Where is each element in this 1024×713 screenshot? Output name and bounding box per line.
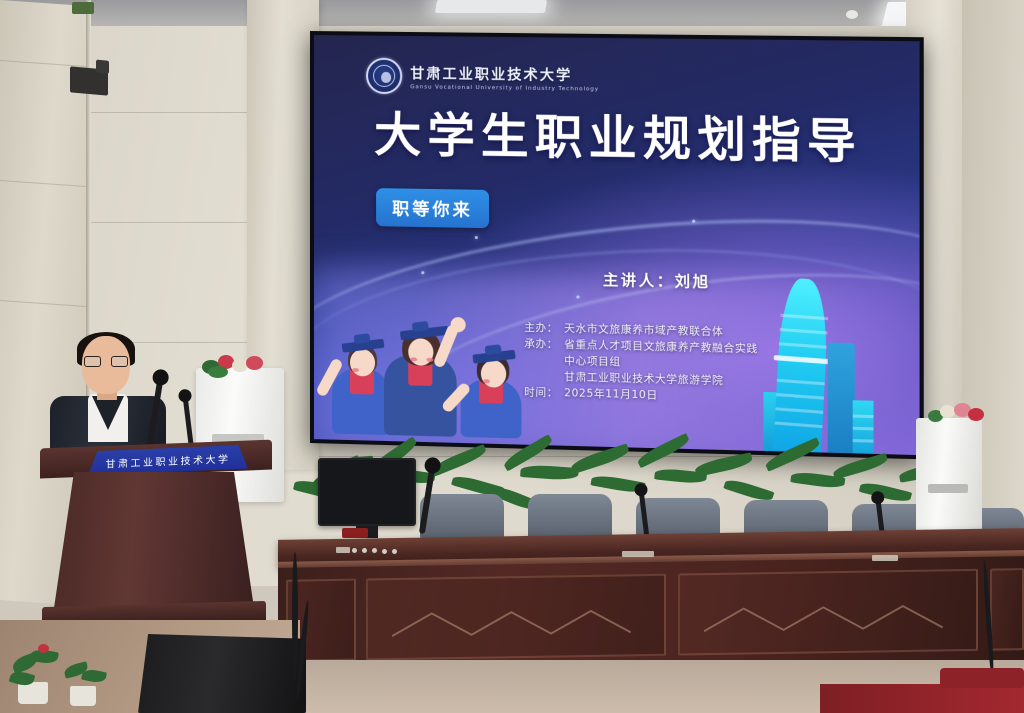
skyline-tower xyxy=(828,342,855,453)
podium-body xyxy=(54,472,254,608)
slide-badge: 职等你来 xyxy=(376,188,489,228)
eyeglasses-icon xyxy=(84,356,128,367)
slide-title: 大学生职业规划指导 xyxy=(374,112,865,167)
power-cable xyxy=(292,552,298,680)
wall-fixture xyxy=(72,2,94,14)
desk-item-red xyxy=(342,528,368,538)
slide-logo: 甘肃工业职业技术大学 Gansu Vocational University o… xyxy=(366,58,599,97)
desk-monitor xyxy=(318,458,416,526)
skyline-tower-main xyxy=(773,277,830,453)
conference-chair xyxy=(420,494,504,540)
led-screen-frame: 甘肃工业职业技术大学 Gansu Vocational University o… xyxy=(310,31,924,459)
ceiling-spotlight xyxy=(846,10,858,19)
auditorium-photo: 甘肃工业职业技术大学 Gansu Vocational University o… xyxy=(0,0,1024,713)
table-panel xyxy=(990,568,1024,651)
air-conditioner-unit-right xyxy=(916,418,982,538)
date-value: 2025年11月10日 xyxy=(558,385,658,404)
podium-nameplate-text: 甘肃工业职业技术大学 xyxy=(106,450,231,470)
presentation-slide: 甘肃工业职业技术大学 Gansu Vocational University o… xyxy=(314,35,920,455)
stage-monitor-speaker xyxy=(138,634,306,713)
conference-chair xyxy=(528,494,612,540)
ceiling-light-panel xyxy=(435,0,547,13)
red-carpet-strip xyxy=(820,684,1024,713)
flower-arrangement-left xyxy=(198,352,272,380)
city-skyline-illustration xyxy=(749,273,905,455)
red-carpet-strip xyxy=(940,668,1024,688)
university-name-en: Gansu Vocational University of Industry … xyxy=(410,84,599,92)
university-seal-icon xyxy=(366,58,402,95)
red-flower xyxy=(38,644,49,653)
university-name-cn: 甘肃工业职业技术大学 xyxy=(410,63,599,85)
wall-mount-bracket xyxy=(70,66,108,95)
flower-arrangement-right xyxy=(928,402,988,426)
potted-plant xyxy=(64,648,120,706)
table-panel xyxy=(678,569,978,656)
table-panel xyxy=(366,574,666,661)
slide-speaker: 主讲人：刘旭 xyxy=(603,269,711,292)
graduates-illustration xyxy=(332,293,554,439)
